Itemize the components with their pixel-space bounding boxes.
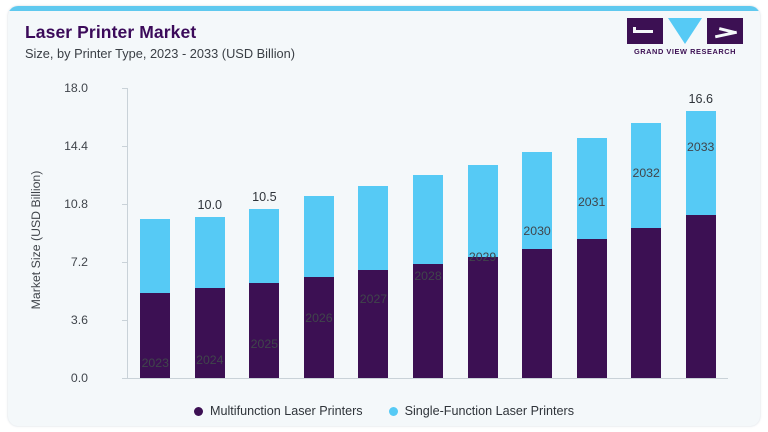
bar-segment-multifunction[interactable] [304,277,334,379]
x-axis-tick-label: 2028 [414,269,441,283]
bar-stack[interactable]: 2029 [468,165,498,378]
chart-legend: Multifunction Laser PrintersSingle-Funct… [8,404,760,418]
bar-segment-multifunction[interactable] [686,215,716,378]
legend-item[interactable]: Multifunction Laser Printers [194,404,363,418]
logo-v-triangle-icon [668,18,702,44]
bar-segment-multifunction[interactable] [358,270,388,378]
bar-segment-single-function[interactable] [304,196,334,277]
x-axis-tick-label: 2030 [523,224,550,238]
x-axis-line [127,378,728,379]
x-axis-tick-label: 2024 [196,353,223,367]
y-axis-tick-label: 10.8 [64,197,88,211]
bar-segment-single-function[interactable] [468,165,498,257]
y-axis-tick-label: 3.6 [71,313,88,327]
bar-segment-single-function[interactable] [140,219,170,293]
bar-segment-multifunction[interactable] [522,249,552,378]
bar-stack[interactable]: 2027 [358,186,388,378]
accent-top-bar [8,6,760,11]
x-axis-tick-label: 2031 [578,195,605,209]
bar-stack[interactable]: 2030 [522,152,552,378]
y-axis-tick-label: 14.4 [64,139,88,153]
legend-swatch-icon [194,407,203,416]
logo-g-stem-icon [633,27,636,33]
x-axis-tick-label: 2033 [687,140,714,154]
y-axis-tick [122,204,127,205]
bar-stack[interactable]: 10.02024 [195,217,225,378]
bar-value-label: 10.5 [252,190,277,204]
legend-swatch-icon [389,407,398,416]
x-axis-tick-label: 2025 [251,337,278,351]
x-axis-tick-label: 2032 [632,166,659,180]
bar-value-label: 16.6 [688,92,713,106]
y-axis-tick [122,146,127,147]
bar-segment-multifunction[interactable] [631,228,661,378]
bar-value-label: 10.0 [198,198,223,212]
y-axis-tick-label: 0.0 [71,371,88,385]
bar-segment-single-function[interactable] [249,209,279,283]
bar-segment-multifunction[interactable] [577,239,607,378]
x-axis-tick-label: 2023 [142,356,169,370]
y-axis-tick [122,320,127,321]
y-axis-tick-label: 18.0 [64,81,88,95]
bar-stack[interactable]: 2028 [413,175,443,378]
y-axis-title: Market Size (USD Billion) [29,140,43,340]
legend-label: Multifunction Laser Printers [210,404,363,418]
bar-segment-multifunction[interactable] [468,257,498,378]
bar-stack[interactable]: 2023 [140,219,170,379]
y-axis-tick-label: 7.2 [71,255,88,269]
y-axis-tick [122,378,127,379]
chart-card: Laser Printer Market Size, by Printer Ty… [8,6,760,426]
legend-item[interactable]: Single-Function Laser Printers [389,404,574,418]
bar-segment-single-function[interactable] [195,217,225,288]
bar-segment-multifunction[interactable] [249,283,279,378]
y-axis-tick [122,262,127,263]
x-axis-tick-label: 2026 [305,311,332,325]
bar-stack[interactable]: 10.52025 [249,209,279,378]
bar-stack[interactable]: 2032 [631,123,661,378]
grand-view-research-logo: GRAND VIEW RESEARCH [627,18,743,60]
page-subtitle: Size, by Printer Type, 2023 - 2033 (USD … [25,46,295,61]
page-title: Laser Printer Market [25,22,196,43]
chart-plot-area: Market Size (USD Billion) 0.03.67.210.81… [128,88,728,378]
y-axis-tick [122,88,127,89]
x-axis-tick-label: 2029 [469,250,496,264]
logo-g-stroke-icon [633,30,653,33]
logo-text: GRAND VIEW RESEARCH [627,47,743,56]
bar-segment-single-function[interactable] [358,186,388,270]
bar-segment-single-function[interactable] [686,111,716,216]
bar-segment-single-function[interactable] [577,138,607,240]
legend-label: Single-Function Laser Printers [405,404,574,418]
bar-stack[interactable]: 16.62033 [686,111,716,378]
bar-stack[interactable]: 2031 [577,138,607,378]
bar-stack[interactable]: 2026 [304,196,334,378]
bar-segment-single-function[interactable] [413,175,443,264]
x-axis-tick-label: 2027 [360,292,387,306]
y-axis-line [127,88,128,379]
